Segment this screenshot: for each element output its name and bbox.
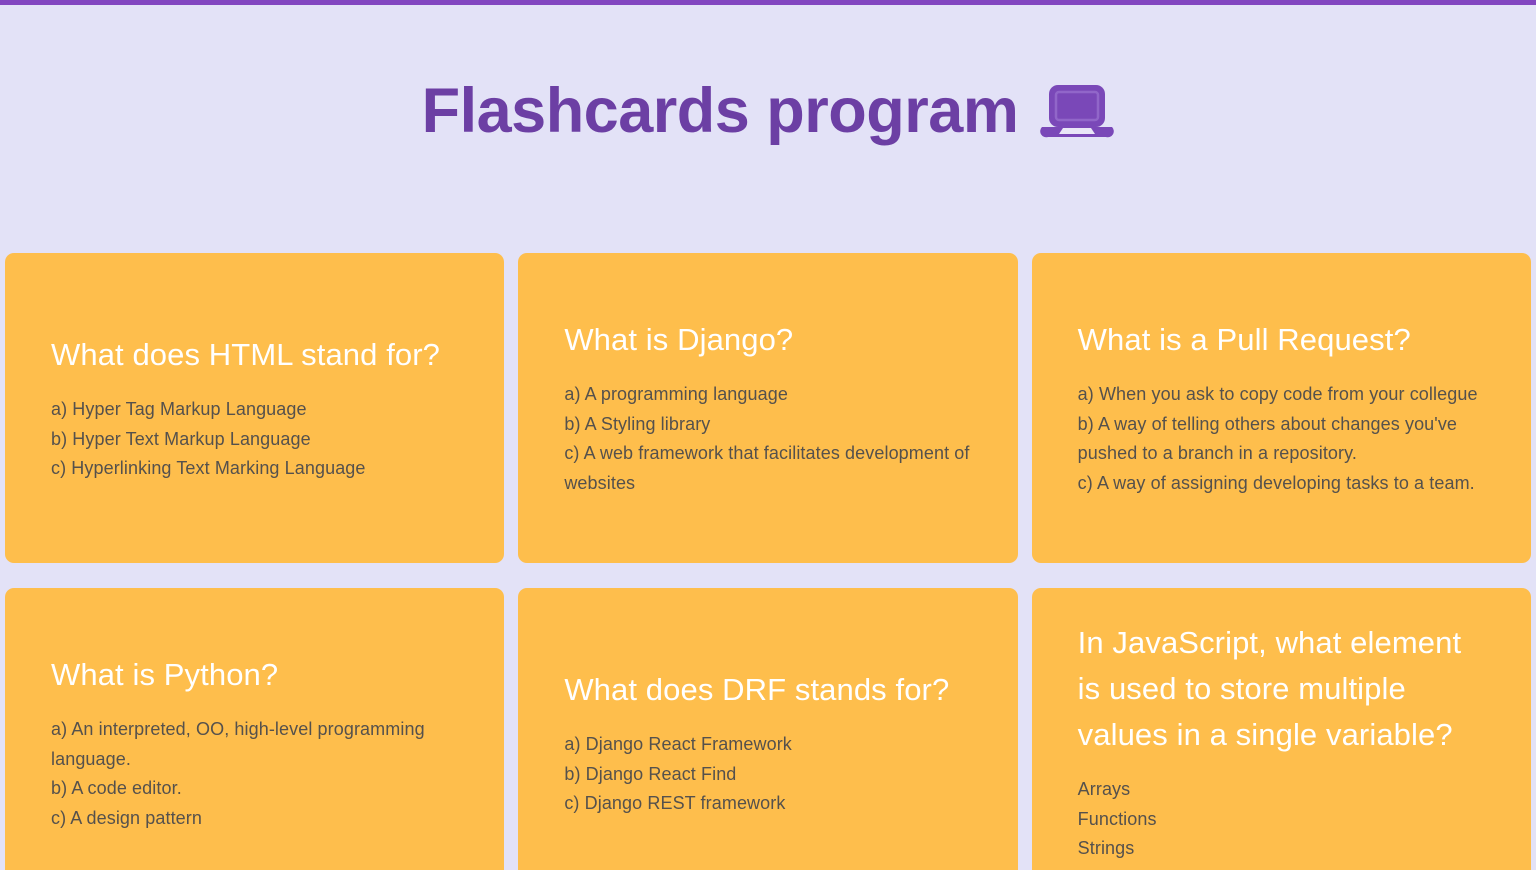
flashcard-option[interactable]: Arrays	[1078, 775, 1485, 805]
flashcard-options: Arrays Functions Strings	[1078, 775, 1485, 865]
flashcard-option[interactable]: a) A programming language	[564, 380, 971, 410]
flashcard-options: a) When you ask to copy code from your c…	[1078, 380, 1485, 500]
flashcard-option[interactable]: Functions	[1078, 805, 1485, 835]
flashcard-option[interactable]: a) An interpreted, OO, high-level progra…	[51, 715, 458, 775]
flashcard-option[interactable]: a) Django React Framework	[564, 730, 971, 760]
flashcard[interactable]: What is a Pull Request? a) When you ask …	[1032, 253, 1531, 563]
flashcard-option[interactable]: c) A way of assigning developing tasks t…	[1078, 469, 1485, 499]
flashcard-question: What does DRF stands for?	[564, 667, 971, 713]
flashcard-grid: What does HTML stand for? a) Hyper Tag M…	[5, 253, 1531, 870]
flashcard-option[interactable]: c) Hyperlinking Text Marking Language	[51, 454, 458, 484]
flashcard-option[interactable]: b) A code editor.	[51, 774, 458, 804]
flashcard-options: a) A programming language b) A Styling l…	[564, 380, 971, 500]
flashcard-option[interactable]: b) A Styling library	[564, 410, 971, 440]
laptop-icon	[1040, 83, 1114, 141]
flashcard-options: a) Django React Framework b) Django Reac…	[564, 730, 971, 820]
flashcard-question: What does HTML stand for?	[51, 332, 458, 378]
flashcard-question: In JavaScript, what element is used to s…	[1078, 620, 1485, 758]
flashcard[interactable]: In JavaScript, what element is used to s…	[1032, 588, 1531, 870]
flashcard-option[interactable]: Strings	[1078, 834, 1485, 864]
page-title-text: Flashcards program	[422, 80, 1019, 143]
flashcard-option[interactable]: a) When you ask to copy code from your c…	[1078, 380, 1485, 410]
flashcard-option[interactable]: c) A web framework that facilitates deve…	[564, 439, 971, 499]
flashcard-options: a) An interpreted, OO, high-level progra…	[51, 715, 458, 835]
flashcard-option[interactable]: b) Hyper Text Markup Language	[51, 425, 458, 455]
flashcard[interactable]: What is Python? a) An interpreted, OO, h…	[5, 588, 504, 870]
flashcard-option[interactable]: c) A design pattern	[51, 804, 458, 834]
flashcard[interactable]: What is Django? a) A programming languag…	[518, 253, 1017, 563]
flashcard-options: a) Hyper Tag Markup Language b) Hyper Te…	[51, 395, 458, 485]
flashcard[interactable]: What does HTML stand for? a) Hyper Tag M…	[5, 253, 504, 563]
page-title: Flashcards program	[422, 80, 1115, 143]
flashcard-question: What is a Pull Request?	[1078, 317, 1485, 363]
page-header: Flashcards program	[0, 5, 1536, 210]
flashcard-question: What is Django?	[564, 317, 971, 363]
flashcard[interactable]: What does DRF stands for? a) Django Reac…	[518, 588, 1017, 870]
flashcard-question: What is Python?	[51, 652, 458, 698]
flashcard-option[interactable]: a) Hyper Tag Markup Language	[51, 395, 458, 425]
flashcard-option[interactable]: b) Django React Find	[564, 760, 971, 790]
flashcard-option[interactable]: b) A way of telling others about changes…	[1078, 410, 1485, 470]
flashcard-option[interactable]: c) Django REST framework	[564, 789, 971, 819]
